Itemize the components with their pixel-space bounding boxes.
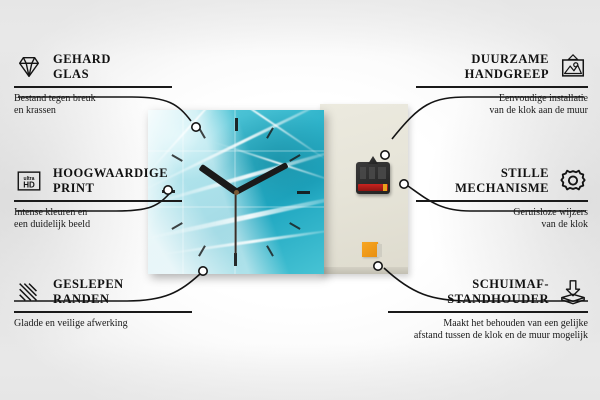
press-down-pad-icon <box>558 278 588 306</box>
feature-title-line2: MECHANISME <box>455 181 549 196</box>
feature-title-line2: PRINT <box>53 181 168 196</box>
feature-title-line1: SCHUIMAF- <box>447 277 549 292</box>
feature-schuimafstandhouder: SCHUIMAF- STANDHOUDER Maakt het behouden… <box>388 277 588 343</box>
clock-tick <box>235 118 237 192</box>
feature-desc-line1: Geruisloze wijzers <box>416 207 588 220</box>
feature-title-line1: STILLE <box>455 166 549 181</box>
feature-divider <box>14 86 172 88</box>
clock-tick <box>236 191 310 193</box>
feature-stille-mechanisme: STILLE MECHANISME Geruisloze wijzers van… <box>416 166 588 232</box>
feature-title-line1: GEHARD <box>53 52 111 67</box>
feature-title-line1: GESLEPEN <box>53 277 124 292</box>
battery <box>358 184 388 191</box>
feature-desc-line2: een duidelijk beeld <box>14 219 182 232</box>
feature-title-line2: GLAS <box>53 67 111 82</box>
ultra-hd-icon: ultra HD <box>14 167 44 195</box>
feature-duurzame-handgreep: DUURZAME HANDGREEP Eenvoudige installati… <box>416 52 588 118</box>
feature-divider <box>416 200 588 202</box>
feature-divider <box>416 86 588 88</box>
feature-geslepen-randen: GESLEPEN RANDEN Gladde en veilige afwerk… <box>14 277 192 330</box>
diamond-icon <box>14 53 44 81</box>
foam-spacer <box>362 242 378 257</box>
clock-hub <box>234 190 239 195</box>
feature-desc-line1: Eenvoudige installatie <box>416 93 588 106</box>
feature-title-line1: HOOGWAARDIGE <box>53 166 168 181</box>
feature-desc-line2: en krassen <box>14 105 172 118</box>
framed-picture-icon <box>558 53 588 81</box>
feature-desc-line1: Gladde en veilige afwerking <box>14 318 192 331</box>
feature-divider <box>14 311 192 313</box>
feature-title-line2: STANDHOUDER <box>447 292 549 307</box>
svg-text:HD: HD <box>23 181 35 190</box>
mechanism-detail <box>360 167 386 179</box>
feature-desc-line2: van de klok <box>416 219 588 232</box>
feature-desc-line1: Intense kleuren en <box>14 207 182 220</box>
gear-icon <box>558 167 588 195</box>
hatched-edge-icon <box>14 278 44 306</box>
feature-title-line1: DUURZAME <box>465 52 549 67</box>
feature-desc-line1: Maakt het behouden van een gelijke <box>388 318 588 331</box>
feature-desc-line2: afstand tussen de klok en de muur mogeli… <box>388 330 588 343</box>
infographic-canvas: GEHARD GLAS Bestand tegen breuk en krass… <box>0 0 600 400</box>
feature-title-line2: HANDGREEP <box>465 67 549 82</box>
second-hand <box>235 192 237 254</box>
feature-desc-line2: van de klok aan de muur <box>416 105 588 118</box>
feature-divider <box>14 200 182 202</box>
feature-desc-line1: Bestand tegen breuk <box>14 93 172 106</box>
product-photo <box>148 104 408 282</box>
feature-gehard-glas: GEHARD GLAS Bestand tegen breuk en krass… <box>14 52 172 118</box>
feature-title-line2: RANDEN <box>53 292 124 307</box>
clock-mechanism <box>356 162 390 194</box>
feature-hoogwaardige-print: ultra HD HOOGWAARDIGE PRINT Intense kleu… <box>14 166 182 232</box>
feature-divider <box>388 311 588 313</box>
